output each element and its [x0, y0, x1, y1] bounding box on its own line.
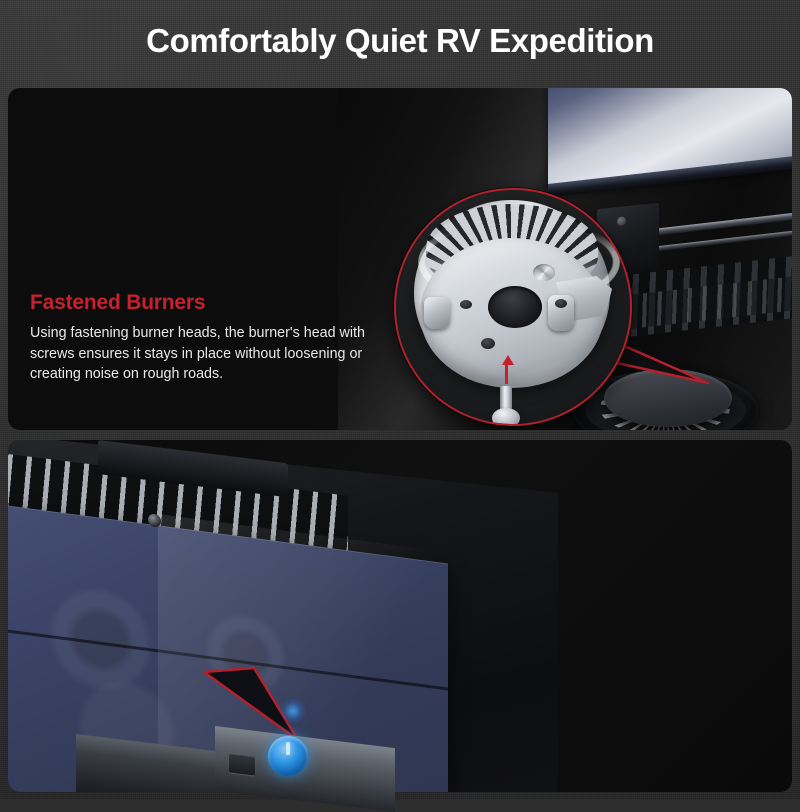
knob-indicator: [286, 742, 290, 755]
red-arrow-stem: [505, 364, 508, 384]
feature-panel-fastened-burners: Fastened Burners Using fastening burner …: [8, 88, 792, 430]
red-arrow-icon: [502, 355, 514, 365]
infographic-page: Comfortably Quiet RV Expedition: [0, 0, 800, 800]
burner-injector-boss: [424, 297, 450, 329]
feature-panel-shockproof-rubber-pad: Shockproof Rubber Pad The tempered glass…: [8, 440, 792, 792]
page-title: Comfortably Quiet RV Expedition: [0, 22, 800, 60]
rubber-pad-photo: [8, 440, 792, 792]
feature-body-fastened-burners: Using fastening burner heads, the burner…: [30, 323, 382, 385]
screw-hole: [460, 300, 472, 309]
magnifier-circle-burner: [394, 188, 632, 426]
feature-text-block-top: Fastened Burners Using fastening burner …: [30, 291, 382, 385]
feature-heading-fastened-burners: Fastened Burners: [30, 291, 382, 315]
screw-hole-target: [481, 338, 495, 349]
screw-hole: [555, 299, 567, 308]
mounting-screw-head: [492, 408, 520, 426]
burner-center-hole: [488, 286, 542, 328]
ignition-glow: [280, 698, 306, 724]
installed-screw-head: [533, 264, 555, 281]
control-panel-recess: [228, 753, 256, 776]
